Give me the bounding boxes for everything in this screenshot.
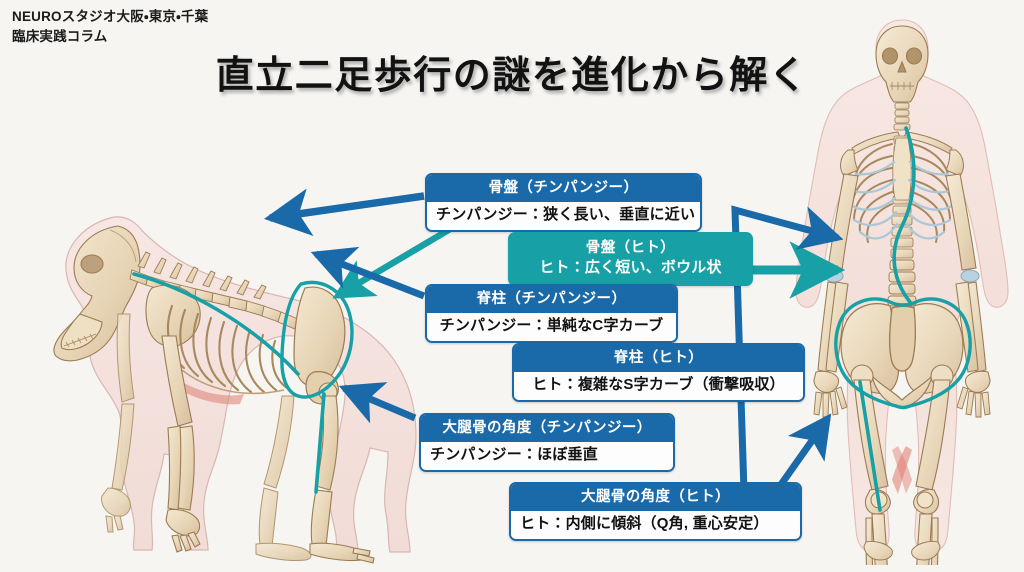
callout-spine-chimp-header: 脊柱（チンパンジー）	[427, 286, 676, 312]
callout-femur-human-header: 大腿骨の角度（ヒト）	[511, 484, 800, 510]
callout-femur-chimp-body: チンパンジー：ほぼ垂直	[421, 441, 673, 470]
chimpanzee-skeleton-figure	[22, 196, 422, 566]
callout-pelvis-human[interactable]: 骨盤（ヒト） ヒト：広く短い、ボウル状	[508, 232, 753, 286]
brand-block: NEUROスタジオ大阪・東京・千葉 臨床実践コラム	[12, 7, 208, 48]
callout-spine-chimp-body: チンパンジー：単純なC字カーブ	[427, 312, 676, 341]
callout-pelvis-chimp-body: チンパンジー：狭く長い、垂直に近い	[427, 201, 700, 230]
brand-line-1: NEUROスタジオ大阪・東京・千葉	[12, 7, 208, 27]
callout-pelvis-chimp-header: 骨盤（チンパンジー）	[427, 175, 700, 201]
callout-pelvis-human-header: 骨盤（ヒト）	[510, 234, 751, 259]
callout-femur-chimp-header: 大腿骨の角度（チンパンジー）	[421, 415, 673, 441]
callout-pelvis-chimp[interactable]: 骨盤（チンパンジー） チンパンジー：狭く長い、垂直に近い	[425, 173, 702, 232]
callout-spine-chimp[interactable]: 脊柱（チンパンジー） チンパンジー：単純なC字カーブ	[425, 284, 678, 343]
callout-spine-human-header: 脊柱（ヒト）	[514, 345, 803, 371]
callout-spine-human-body: ヒト：複雑なS字カーブ（衝撃吸収）	[514, 371, 803, 400]
callout-femur-chimp[interactable]: 大腿骨の角度（チンパンジー） チンパンジー：ほぼ垂直	[419, 413, 675, 472]
slide-canvas: NEUROスタジオ大阪・東京・千葉 臨床実践コラム 直立二足歩行の謎を進化から解…	[0, 0, 1024, 572]
callout-spine-human[interactable]: 脊柱（ヒト） ヒト：複雑なS字カーブ（衝撃吸収）	[512, 343, 805, 402]
callout-femur-human[interactable]: 大腿骨の角度（ヒト） ヒト：内側に傾斜（Q角, 重心安定）	[509, 482, 802, 541]
callout-femur-human-body: ヒト：内側に傾斜（Q角, 重心安定）	[511, 510, 800, 539]
callout-pelvis-human-body: ヒト：広く短い、ボウル状	[510, 259, 751, 284]
human-skeleton-figure	[782, 10, 1022, 565]
